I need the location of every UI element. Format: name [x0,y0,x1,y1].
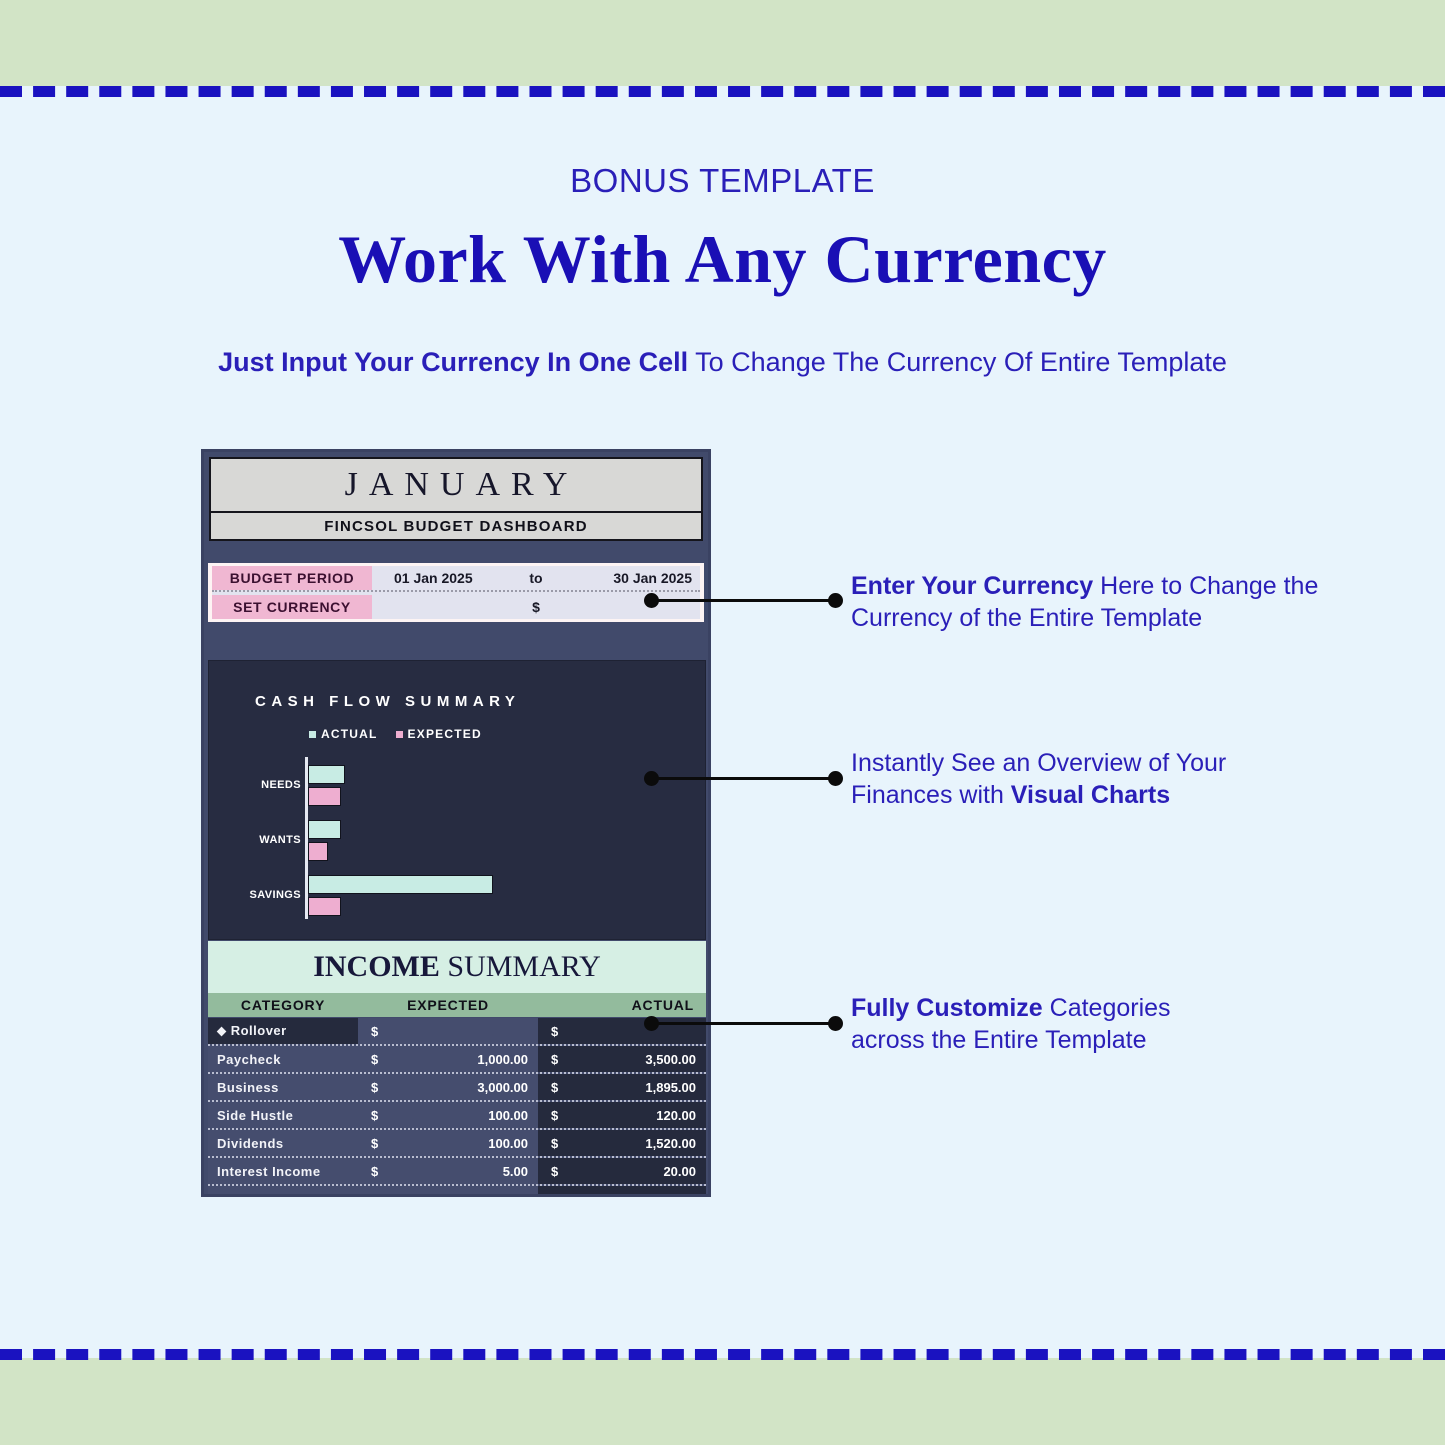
set-currency-label: SET CURRENCY [212,595,372,619]
row-expected-amount: 100.00 [488,1108,528,1123]
category-label-needs: NEEDS [261,779,301,791]
chart-title: CASH FLOW SUMMARY [255,693,520,710]
bar-group-savings: SAVINGS [308,875,493,916]
column-header-expected: EXPECTED [358,997,538,1013]
budget-period-row: BUDGET PERIOD 01 Jan 2025 to 30 Jan 2025 [212,566,700,590]
row-expected[interactable]: $ 100.00 [358,1102,538,1128]
row-category: ⬥ Rollover [208,1018,358,1044]
currency-symbol: $ [551,1164,558,1179]
row-category: Dividends [208,1130,358,1156]
bar-savings-expected [308,897,341,916]
row-expected[interactable]: $ [358,1018,538,1044]
row-expected[interactable]: $ 150.00 [358,1186,538,1197]
callout-1-text: Enter Your Currency Here to Change the C… [851,570,1321,634]
callout-1-rest: Here to Change the [1093,572,1318,600]
row-expected-amount: 3,000.00 [477,1080,528,1095]
table-row[interactable]: Side Hustle $ 100.00 $ 120.00 [208,1102,706,1130]
category-label-wants: WANTS [259,834,301,846]
row-expected-amount: 150.00 [488,1192,528,1198]
row-expected[interactable]: $ 100.00 [358,1130,538,1156]
callout-1-line2: Currency of the Entire Template [851,604,1202,632]
row-expected-amount: 1,000.00 [477,1052,528,1067]
bottom-green-band [0,1358,1445,1445]
row-expected[interactable]: $ 5.00 [358,1158,538,1184]
callout-3-text: Fully Customize Categories across the En… [851,992,1251,1056]
table-row[interactable]: Business $ 3,000.00 $ 1,895.00 [208,1074,706,1102]
callout-1-leader-line [651,599,837,602]
callout-2-line2-pre: Finances with [851,781,1011,809]
page-subtitle: Just Input Your Currency In One Cell To … [0,349,1445,376]
legend-swatch-actual [309,731,316,738]
row-actual[interactable]: $ 1,895.00 [538,1074,706,1100]
top-dashed-divider [0,86,1445,97]
row-actual[interactable]: $ 3,500.00 [538,1046,706,1072]
bar-group-needs: NEEDS [308,765,345,806]
row-expected[interactable]: $ 1,000.00 [358,1046,538,1072]
legend-label-expected: EXPECTED [408,727,482,741]
chart-legend: ACTUAL EXPECTED [309,727,482,741]
category-label-savings: SAVINGS [250,889,302,901]
row-category: Interest Income [208,1158,358,1184]
period-to-word: to [529,570,542,586]
currency-symbol: $ [551,1192,558,1198]
row-actual-amount: 3,500.00 [645,1052,696,1067]
page-title: Work With Any Currency [0,225,1445,293]
legend-label-actual: ACTUAL [321,727,378,741]
table-row[interactable]: Commission $ 150.00 $ 200.00 [208,1186,706,1197]
currency-symbol: $ [371,1108,378,1123]
row-category: Paycheck [208,1046,358,1072]
row-actual-amount: 200.00 [656,1192,696,1198]
row-expected[interactable]: $ 3,000.00 [358,1074,538,1100]
dashboard-label: FINCSOL BUDGET DASHBOARD [324,518,588,535]
period-end-date: 30 Jan 2025 [613,570,692,586]
income-heading-bold: INCOME [313,950,440,983]
column-header-actual: ACTUAL [538,997,706,1013]
period-start-date: 01 Jan 2025 [394,570,473,586]
subtitle-bold: Just Input Your Currency In One Cell [218,347,688,377]
bar-group-wants: WANTS [308,820,341,861]
table-row[interactable]: Interest Income $ 5.00 $ 20.00 [208,1158,706,1186]
currency-symbol-value: $ [532,599,540,615]
row-actual[interactable]: $ 1,520.00 [538,1130,706,1156]
callout-3-end-dot [828,1016,843,1031]
callout-2-line2-bold: Visual Charts [1011,781,1170,809]
table-row[interactable]: Dividends $ 100.00 $ 1,520.00 [208,1130,706,1158]
dashboard-subtitle-bar: FINCSOL BUDGET DASHBOARD [209,513,703,541]
month-banner: JANUARY [209,457,703,513]
row-actual[interactable]: $ 120.00 [538,1102,706,1128]
currency-symbol: $ [551,1052,558,1067]
income-heading-light: SUMMARY [440,950,601,983]
column-header-category: CATEGORY [208,997,358,1013]
row-actual-amount: 20.00 [663,1164,696,1179]
callout-3-leader-line [651,1022,837,1025]
callout-2-leader-line [651,777,837,780]
currency-symbol: $ [551,1024,558,1039]
budget-period-values[interactable]: 01 Jan 2025 to 30 Jan 2025 [372,566,700,590]
subtitle-rest: To Change The Currency Of Entire Templat… [688,347,1227,377]
cash-flow-chart-panel: CASH FLOW SUMMARY ACTUAL EXPECTED NEEDS … [208,660,706,940]
currency-symbol: $ [551,1136,558,1151]
row-expected-amount: 100.00 [488,1136,528,1151]
table-row[interactable]: Paycheck $ 1,000.00 $ 3,500.00 [208,1046,706,1074]
budget-period-label: BUDGET PERIOD [212,566,372,590]
currency-symbol: $ [371,1192,378,1198]
currency-symbol: $ [371,1024,378,1039]
income-table-header: CATEGORY EXPECTED ACTUAL [208,993,706,1017]
currency-symbol: $ [371,1164,378,1179]
row-category: Business [208,1074,358,1100]
callout-3-bold: Fully Customize [851,994,1043,1022]
bar-needs-expected [308,787,341,806]
currency-symbol: $ [551,1080,558,1095]
month-label: JANUARY [334,466,579,504]
top-green-band [0,0,1445,86]
chart-plot-area: NEEDS WANTS SAVINGS [305,757,695,919]
income-summary-heading: INCOME SUMMARY [208,941,706,993]
currency-symbol: $ [371,1080,378,1095]
row-actual[interactable]: $ 200.00 [538,1186,706,1197]
row-actual-amount: 120.00 [656,1108,696,1123]
row-actual-amount: 1,895.00 [645,1080,696,1095]
legend-item-expected: EXPECTED [396,727,482,741]
callout-2-end-dot [828,771,843,786]
row-actual-amount: 1,520.00 [645,1136,696,1151]
bar-wants-expected [308,842,328,861]
callout-3-line2: across the Entire Template [851,1026,1147,1054]
legend-swatch-expected [396,731,403,738]
currency-symbol: $ [551,1108,558,1123]
row-category: Side Hustle [208,1102,358,1128]
row-expected-amount: 5.00 [503,1164,528,1179]
row-category: Commission [208,1186,358,1197]
legend-item-actual: ACTUAL [309,727,378,741]
bottom-dashed-divider [0,1349,1445,1360]
bar-savings-actual [308,875,493,894]
callout-3-rest: Categories [1043,994,1171,1022]
callout-2-line1: Instantly See an Overview of Your [851,749,1226,777]
bar-needs-actual [308,765,345,784]
currency-symbol: $ [371,1136,378,1151]
kicker-text: BONUS TEMPLATE [0,164,1445,197]
page-header: BONUS TEMPLATE Work With Any Currency Ju… [0,112,1445,376]
set-currency-row: SET CURRENCY $ [212,595,700,619]
row-actual[interactable]: $ 20.00 [538,1158,706,1184]
currency-symbol: $ [371,1052,378,1067]
income-table-body: ⬥ Rollover $ $ Paycheck $ 1,000.00 $ 3,5… [208,1018,706,1197]
bar-wants-actual [308,820,341,839]
callout-1-end-dot [828,593,843,608]
callout-1-bold: Enter Your Currency [851,572,1093,600]
period-currency-block: BUDGET PERIOD 01 Jan 2025 to 30 Jan 2025… [208,563,704,622]
budget-dashboard-preview: JANUARY FINCSOL BUDGET DASHBOARD BUDGET … [201,449,711,1197]
table-row[interactable]: ⬥ Rollover $ $ [208,1018,706,1046]
callout-2-text: Instantly See an Overview of Your Financ… [851,747,1271,811]
